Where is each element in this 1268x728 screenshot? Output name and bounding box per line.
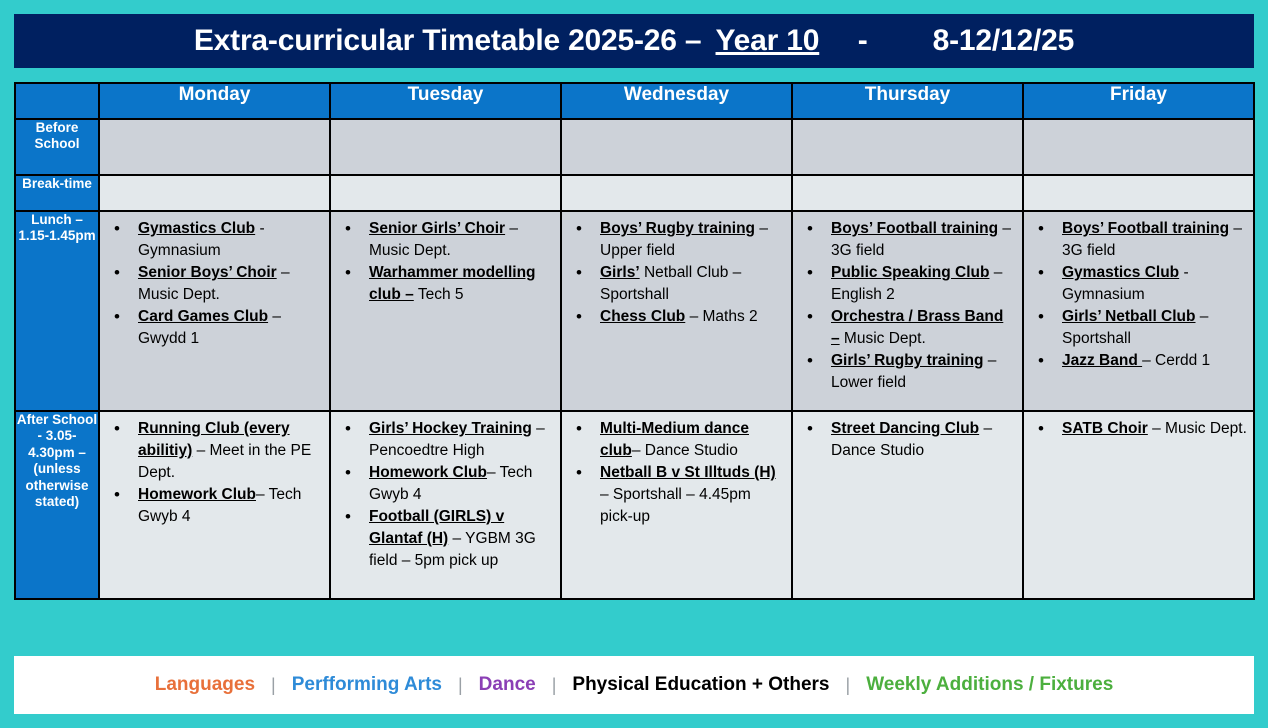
- activity-item[interactable]: SATB Choir – Music Dept.: [1034, 418, 1247, 440]
- page-title: Extra-curricular Timetable 2025-26 – Yea…: [14, 14, 1254, 68]
- activity-name: Boys’ Football training: [831, 220, 998, 237]
- activity-item[interactable]: Girls’ Netball Club – Sportshall: [1034, 306, 1247, 350]
- activity-name: Homework Club: [369, 464, 487, 481]
- grid-corner-cell: [15, 83, 99, 119]
- activity-location: – Sportshall – 4.45pm pick-up: [600, 486, 751, 525]
- activity-list: Boys’ Rugby training – Upper fieldGirls’…: [562, 212, 791, 332]
- legend-item-week: Weekly Additions / Fixtures: [852, 674, 1127, 696]
- activity-item[interactable]: Girls’ Hockey Training – Pencoedtre High: [341, 418, 554, 462]
- column-header-thursday: Thursday: [792, 83, 1023, 119]
- cell-lunch-wednesday: Boys’ Rugby training – Upper fieldGirls’…: [561, 211, 792, 411]
- activity-item[interactable]: Public Speaking Club – English 2: [803, 262, 1016, 306]
- activity-name: Jazz Band: [1062, 352, 1142, 369]
- legend-separator: |: [456, 675, 465, 696]
- column-header-friday: Friday: [1023, 83, 1254, 119]
- cell-before-school-wednesday: [561, 119, 792, 175]
- activity-name: Gymastics Club: [1062, 264, 1179, 281]
- cell-after-school-monday: Running Club (every abilitiy) – Meet in …: [99, 411, 330, 599]
- timetable-row-break-time: Break-time: [15, 175, 1254, 211]
- title-year-group: Year 10: [710, 24, 826, 58]
- activity-name: Chess Club: [600, 308, 685, 325]
- activity-location: – Music Dept.: [1148, 420, 1247, 437]
- timetable-row-after-school: After School - 3.05-4.30pm – (unless oth…: [15, 411, 1254, 599]
- activity-list: Gymastics Club - GymnasiumSenior Boys’ C…: [100, 212, 329, 354]
- legend-item-dance: Dance: [465, 674, 550, 696]
- title-separator: -: [825, 24, 900, 58]
- legend-separator: |: [269, 675, 278, 696]
- column-header-tuesday: Tuesday: [330, 83, 561, 119]
- activity-name: Senior Boys’ Choir: [138, 264, 277, 281]
- legend-item-pe: Physical Education + Others: [558, 674, 843, 696]
- legend-separator: |: [844, 675, 853, 696]
- cell-after-school-friday: SATB Choir – Music Dept.: [1023, 411, 1254, 599]
- activity-list: Senior Girls’ Choir – Music Dept.Warhamm…: [331, 212, 560, 310]
- activity-location: Music Dept.: [840, 330, 926, 347]
- activity-name: Girls’ Hockey Training: [369, 420, 532, 437]
- column-header-wednesday: Wednesday: [561, 83, 792, 119]
- activity-item[interactable]: Boys’ Rugby training – Upper field: [572, 218, 785, 262]
- legend-separator: |: [550, 675, 559, 696]
- activity-list: Multi-Medium dance club– Dance StudioNet…: [562, 412, 791, 532]
- activity-list: Running Club (every abilitiy) – Meet in …: [100, 412, 329, 532]
- timetable-row-lunch: Lunch – 1.15-1.45pmGymastics Club - Gymn…: [15, 211, 1254, 411]
- activity-list: Boys’ Football training – 3G fieldGymast…: [1024, 212, 1253, 376]
- timetable-page: Extra-curricular Timetable 2025-26 – Yea…: [0, 0, 1268, 728]
- legend-item-lang: Languages: [141, 674, 269, 696]
- activity-name: Girls’ Rugby training: [831, 352, 983, 369]
- activity-item[interactable]: Girls’ Rugby training – Lower field: [803, 350, 1016, 394]
- title-main-text: Extra-curricular Timetable 2025-26 –: [194, 24, 710, 58]
- activity-item[interactable]: Gymastics Club - Gymnasium: [110, 218, 323, 262]
- table-header-row: Monday Tuesday Wednesday Thursday Friday: [15, 83, 1254, 119]
- activity-item[interactable]: Senior Boys’ Choir – Music Dept.: [110, 262, 323, 306]
- activity-name: Girls’ Netball Club: [1062, 308, 1196, 325]
- activity-list: Boys’ Football training – 3G fieldPublic…: [793, 212, 1022, 398]
- activity-name: Girls’: [600, 264, 640, 281]
- activity-item[interactable]: Boys’ Football training – 3G field: [803, 218, 1016, 262]
- title-week-dates: 8-12/12/25: [900, 24, 1074, 58]
- activity-name: Gymastics Club: [138, 220, 255, 237]
- cell-lunch-thursday: Boys’ Football training – 3G fieldPublic…: [792, 211, 1023, 411]
- activity-item[interactable]: Chess Club – Maths 2: [572, 306, 785, 328]
- activity-item[interactable]: Boys’ Football training – 3G field: [1034, 218, 1247, 262]
- cell-break-time-thursday: [792, 175, 1023, 211]
- activity-item[interactable]: Gymastics Club - Gymnasium: [1034, 262, 1247, 306]
- activity-name: Boys’ Football training: [1062, 220, 1229, 237]
- activity-name: SATB Choir: [1062, 420, 1148, 437]
- activity-item[interactable]: Netball B v St Illtuds (H) – Sportshall …: [572, 462, 785, 528]
- activity-list: SATB Choir – Music Dept.: [1024, 412, 1253, 444]
- activity-name: Card Games Club: [138, 308, 268, 325]
- activity-item[interactable]: Multi-Medium dance club– Dance Studio: [572, 418, 785, 462]
- row-label-after-school: After School - 3.05-4.30pm – (unless oth…: [15, 411, 99, 599]
- cell-break-time-friday: [1023, 175, 1254, 211]
- cell-before-school-friday: [1023, 119, 1254, 175]
- cell-before-school-monday: [99, 119, 330, 175]
- activity-item[interactable]: Homework Club– Tech Gwyb 4: [110, 484, 323, 528]
- activity-name: Street Dancing Club: [831, 420, 979, 437]
- activity-list: Girls’ Hockey Training – Pencoedtre High…: [331, 412, 560, 576]
- cell-lunch-tuesday: Senior Girls’ Choir – Music Dept.Warhamm…: [330, 211, 561, 411]
- activity-location: – Dance Studio: [632, 442, 738, 459]
- activity-item[interactable]: Street Dancing Club – Dance Studio: [803, 418, 1016, 462]
- cell-break-time-monday: [99, 175, 330, 211]
- cell-before-school-thursday: [792, 119, 1023, 175]
- activity-item[interactable]: Card Games Club – Gwydd 1: [110, 306, 323, 350]
- cell-after-school-tuesday: Girls’ Hockey Training – Pencoedtre High…: [330, 411, 561, 599]
- row-label-lunch: Lunch – 1.15-1.45pm: [15, 211, 99, 411]
- timetable-grid: Monday Tuesday Wednesday Thursday Friday…: [14, 82, 1255, 600]
- activity-item[interactable]: Homework Club– Tech Gwyb 4: [341, 462, 554, 506]
- activity-item[interactable]: Football (GIRLS) v Glantaf (H) – YGBM 3G…: [341, 506, 554, 572]
- timetable-body: Before SchoolBreak-timeLunch – 1.15-1.45…: [15, 119, 1254, 599]
- row-label-before-school: Before School: [15, 119, 99, 175]
- activity-item[interactable]: Jazz Band – Cerdd 1: [1034, 350, 1247, 372]
- activity-name: Public Speaking Club: [831, 264, 989, 281]
- activity-name: Homework Club: [138, 486, 256, 503]
- timetable-row-before-school: Before School: [15, 119, 1254, 175]
- activity-location: – Maths 2: [685, 308, 757, 325]
- activity-item[interactable]: Orchestra / Brass Band – Music Dept.: [803, 306, 1016, 350]
- row-label-break-time: Break-time: [15, 175, 99, 211]
- cell-before-school-tuesday: [330, 119, 561, 175]
- cell-after-school-wednesday: Multi-Medium dance club– Dance StudioNet…: [561, 411, 792, 599]
- activity-item[interactable]: Warhammer modelling club – Tech 5: [341, 262, 554, 306]
- column-header-monday: Monday: [99, 83, 330, 119]
- activity-name: Senior Girls’ Choir: [369, 220, 505, 237]
- cell-lunch-friday: Boys’ Football training – 3G fieldGymast…: [1023, 211, 1254, 411]
- activity-location: – Cerdd 1: [1142, 352, 1210, 369]
- activity-name: Boys’ Rugby training: [600, 220, 755, 237]
- cell-break-time-wednesday: [561, 175, 792, 211]
- activity-name: Netball B v St Illtuds (H): [600, 464, 776, 481]
- legend-item-perf: Perfforming Arts: [278, 674, 456, 696]
- cell-after-school-thursday: Street Dancing Club – Dance Studio: [792, 411, 1023, 599]
- activity-list: Street Dancing Club – Dance Studio: [793, 412, 1022, 466]
- cell-break-time-tuesday: [330, 175, 561, 211]
- activity-item[interactable]: Running Club (every abilitiy) – Meet in …: [110, 418, 323, 484]
- cell-lunch-monday: Gymastics Club - GymnasiumSenior Boys’ C…: [99, 211, 330, 411]
- activity-item[interactable]: Senior Girls’ Choir – Music Dept.: [341, 218, 554, 262]
- activity-location: Tech 5: [414, 286, 464, 303]
- legend-bar: Languages|Perfforming Arts|Dance|Physica…: [14, 656, 1254, 714]
- activity-item[interactable]: Girls’ Netball Club – Sportshall: [572, 262, 785, 306]
